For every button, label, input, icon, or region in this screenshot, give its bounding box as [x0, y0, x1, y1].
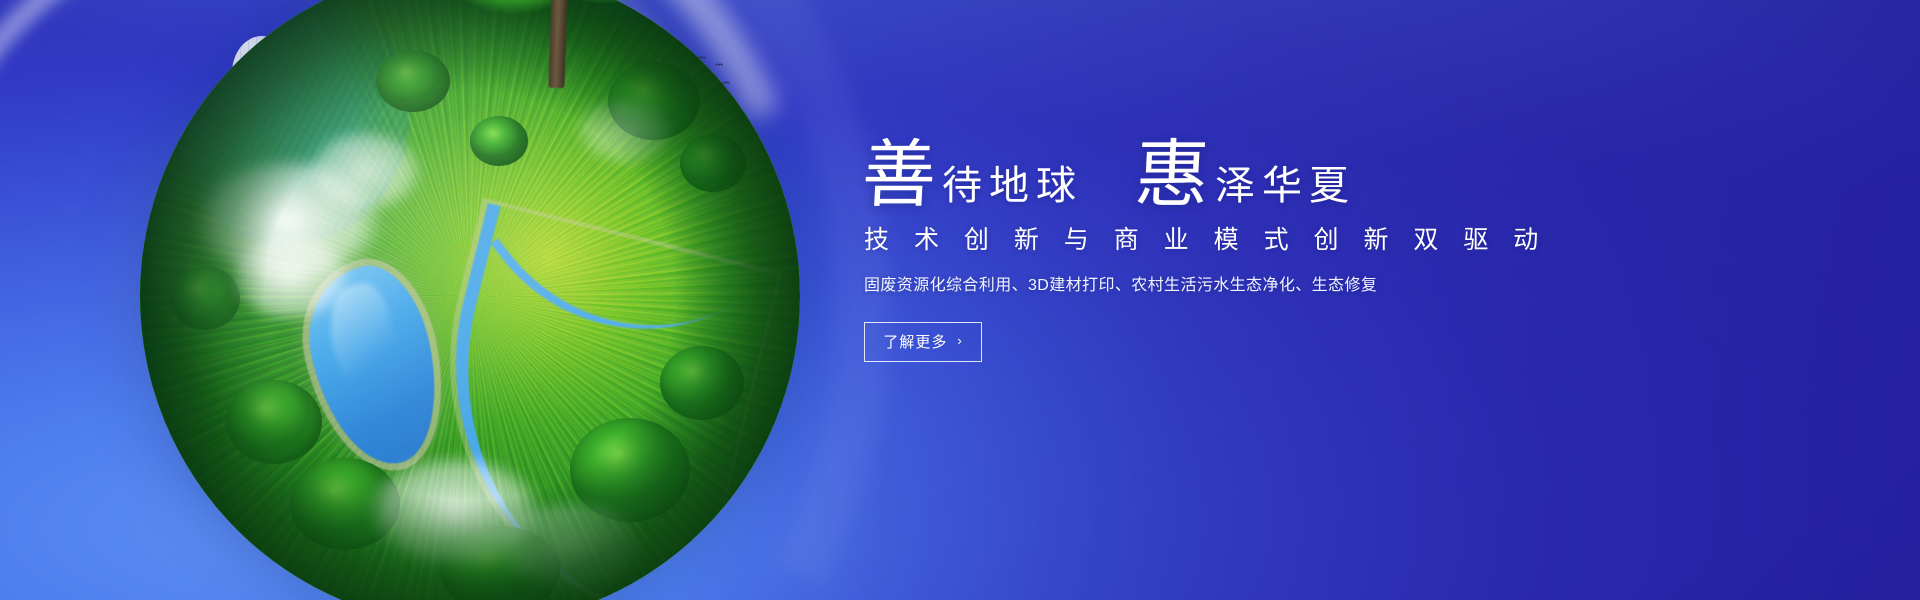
learn-more-button[interactable]: 了解更多 › — [864, 322, 982, 362]
headline-rest-1: 待地球 — [942, 166, 1083, 210]
hero-subtitle: 技 术 创 新 与 商 业 模 式 创 新 双 驱 动 — [864, 224, 1562, 258]
learn-more-label: 了解更多 — [883, 331, 947, 352]
page-title: 善 待地球 惠 泽华夏 — [862, 126, 1562, 210]
chevron-right-icon: › — [957, 334, 962, 347]
headline-rest-2: 泽华夏 — [1215, 166, 1356, 210]
hero-copy: 善 待地球 惠 泽华夏 技 术 创 新 与 商 业 模 式 创 新 双 驱 动 … — [862, 126, 1562, 362]
headline-lead-char-1: 善 — [860, 142, 938, 210]
hero-banner: 善 待地球 惠 泽华夏 技 术 创 新 与 商 业 模 式 创 新 双 驱 动 … — [0, 0, 1920, 600]
headline-group-1: 善 待地球 — [862, 142, 1083, 210]
headline-group-2: 惠 泽华夏 — [1135, 142, 1356, 210]
headline-lead-char-2: 惠 — [1133, 142, 1211, 210]
hero-description: 固废资源化综合利用、3D建材打印、农村生活污水生态净化、生态修复 — [864, 274, 1562, 298]
